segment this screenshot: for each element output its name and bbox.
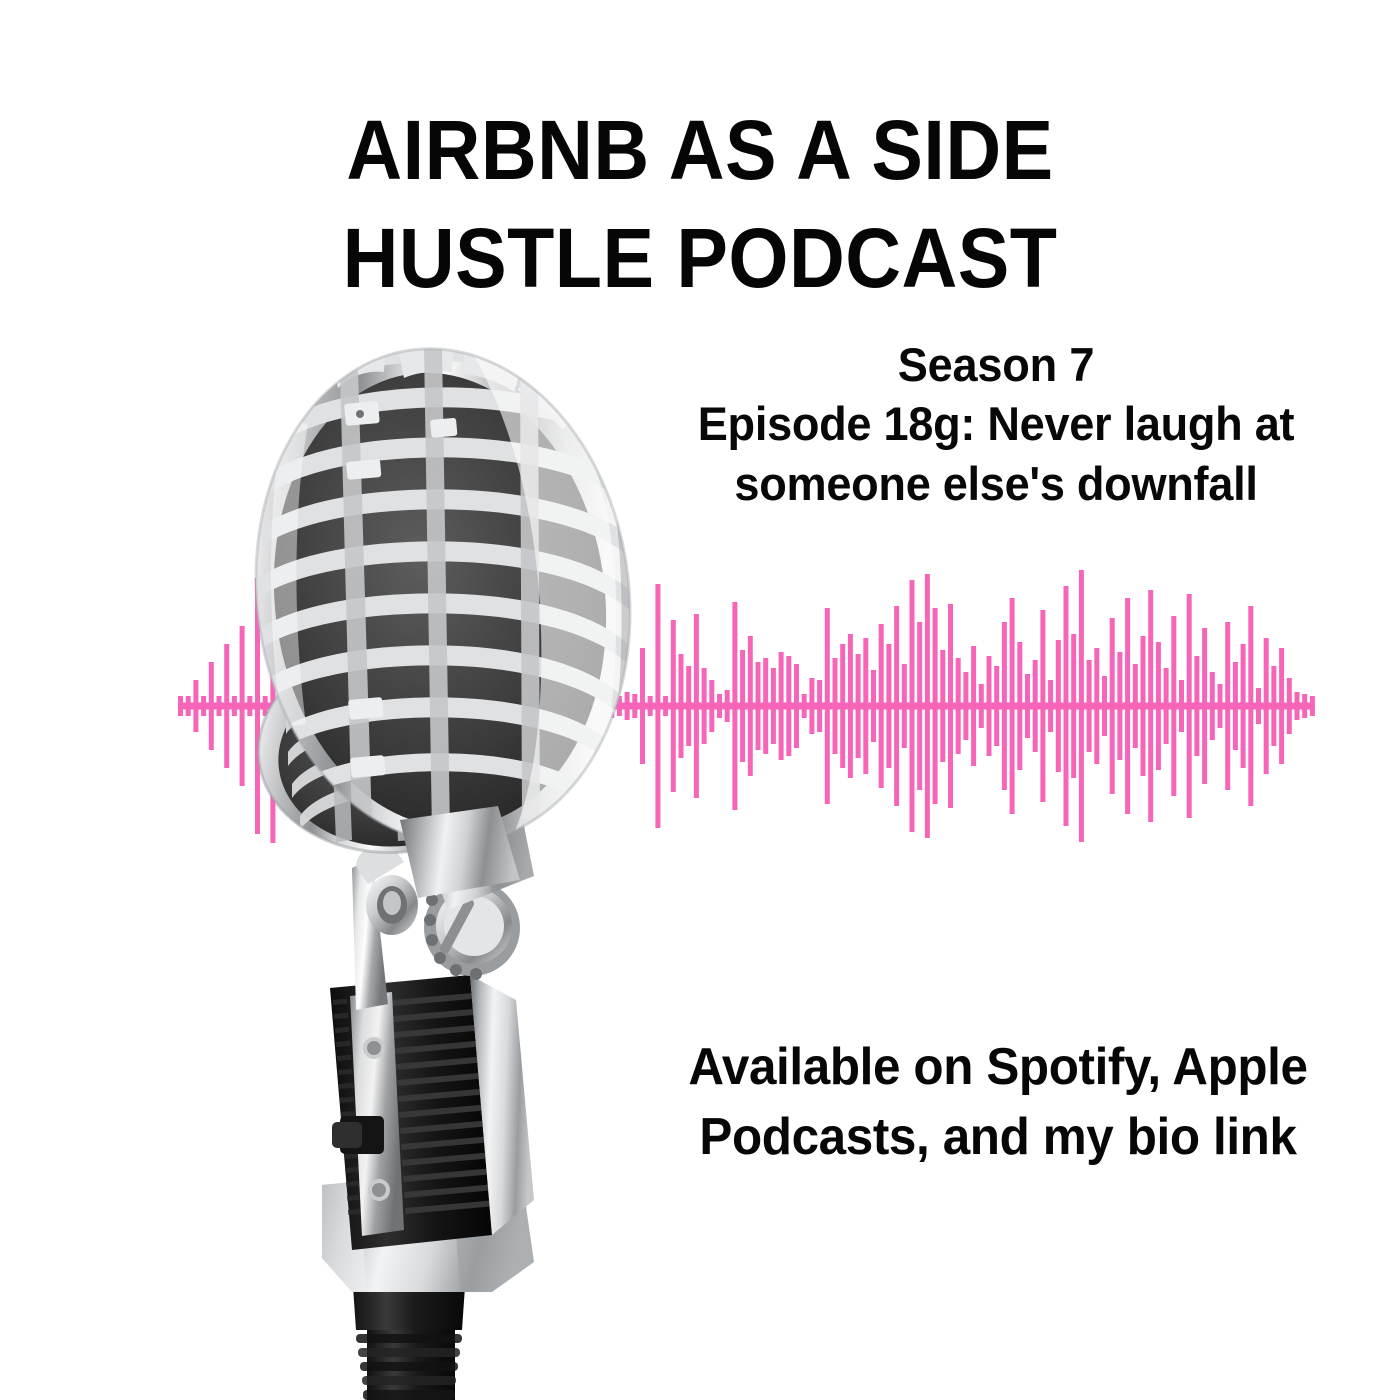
waveform-bar	[1033, 660, 1038, 752]
waveform-bar	[848, 634, 853, 778]
waveform-bar	[340, 696, 345, 716]
waveform-bar	[217, 696, 222, 716]
waveform-bar	[948, 604, 953, 808]
waveform-bar	[1241, 644, 1246, 768]
waveform-bar	[994, 666, 999, 746]
waveform-bar	[270, 569, 275, 843]
waveform-bar	[1279, 648, 1284, 764]
waveform-bar	[232, 696, 237, 716]
waveform-bar	[571, 696, 576, 716]
waveform-bar	[186, 696, 191, 716]
waveform-bar	[648, 696, 653, 716]
waveform-bar	[1179, 680, 1184, 732]
waveform-bar	[1017, 642, 1022, 770]
microphone-neck	[400, 806, 520, 898]
waveform-bar	[756, 662, 761, 750]
episode-title-line-2: someone else's downfall	[673, 454, 1318, 514]
waveform-bar	[1156, 642, 1161, 770]
waveform-bar	[686, 666, 691, 746]
waveform-bar	[224, 644, 229, 768]
waveform-bar	[309, 696, 314, 716]
waveform-bar	[771, 668, 776, 744]
waveform-bar	[879, 624, 884, 788]
waveform-bar	[963, 672, 968, 740]
waveform-bar	[1218, 684, 1223, 728]
waveform-bar	[971, 646, 976, 766]
waveform-bar	[563, 694, 568, 718]
waveform-bar	[586, 694, 591, 718]
waveform-bar	[940, 650, 945, 762]
waveform-bar	[301, 648, 306, 764]
waveform-bar	[725, 690, 730, 722]
waveform-bar	[263, 696, 268, 716]
microphone-yoke	[352, 806, 534, 1010]
waveform-bar	[1187, 594, 1192, 818]
waveform-bar	[355, 694, 360, 718]
waveform-bar	[910, 580, 915, 832]
waveform-bar	[455, 692, 460, 720]
waveform-bar	[432, 696, 437, 716]
microphone-body-panel	[330, 975, 534, 1250]
title-line-1: AIRBNB AS A SIDE	[56, 96, 1344, 204]
waveform-bar	[1071, 634, 1076, 778]
waveform-bar	[717, 694, 722, 718]
waveform-bar	[625, 692, 630, 720]
waveform-bar	[555, 692, 560, 720]
waveform-bar	[525, 696, 530, 716]
waveform-bar	[632, 694, 637, 718]
waveform-bar	[602, 692, 607, 720]
waveform-bar	[409, 696, 414, 716]
waveform-bar	[240, 626, 245, 786]
waveform-bar	[679, 654, 684, 758]
waveform-bar	[740, 650, 745, 762]
waveform-bar	[1194, 656, 1199, 756]
waveform-bar	[1164, 668, 1169, 744]
waveform-bar	[833, 658, 838, 754]
microphone-cable	[352, 1238, 466, 1400]
waveform-bar	[902, 664, 907, 748]
waveform-bar	[517, 694, 522, 718]
waveform-bar	[917, 622, 922, 790]
waveform-bar	[694, 614, 699, 798]
waveform-bar	[209, 662, 214, 750]
waveform-bar	[193, 680, 198, 732]
waveform-bar	[794, 664, 799, 748]
waveform-bar	[871, 670, 876, 742]
waveform-bar	[448, 696, 453, 716]
waveform-bar	[1010, 598, 1015, 814]
waveform-bar	[1110, 618, 1115, 794]
waveform-bar	[178, 696, 183, 716]
waveform-bar	[386, 696, 391, 716]
waveform-bar	[417, 694, 422, 718]
waveform-bar	[594, 696, 599, 716]
waveform-bar	[779, 652, 784, 760]
waveform-bar	[401, 696, 406, 716]
waveform-bar	[540, 694, 545, 718]
waveform-bar	[1233, 662, 1238, 750]
waveform-bar	[486, 692, 491, 720]
episode-info: Season 7 Episode 18g: Never laugh at som…	[660, 336, 1332, 514]
waveform-bar	[578, 692, 583, 720]
waveform-bar	[979, 684, 984, 728]
waveform-bar	[748, 636, 753, 776]
waveform-bar	[609, 694, 614, 718]
waveform-bar	[424, 692, 429, 720]
availability-line-1: Available on Spotify, Apple	[658, 1032, 1338, 1102]
season-label: Season 7	[673, 336, 1318, 394]
waveform-bar	[1133, 664, 1138, 748]
waveform-bar	[1302, 694, 1307, 718]
waveform-bar	[471, 694, 476, 718]
waveform-bar	[809, 678, 814, 734]
waveform-bar	[378, 696, 383, 716]
waveform-bar	[548, 696, 553, 716]
waveform-bar	[1117, 652, 1122, 760]
waveform-bar	[1102, 676, 1107, 736]
waveform-bar	[1002, 622, 1007, 790]
waveform-bar	[933, 608, 938, 804]
waveform-bar	[702, 668, 707, 744]
waveform-bar	[671, 620, 676, 792]
waveform-bar	[286, 602, 291, 810]
waveform-bar	[1202, 628, 1207, 784]
microphone-base	[322, 1165, 534, 1292]
waveform-bar	[1148, 590, 1153, 822]
waveform-bar	[1064, 586, 1069, 826]
waveform-bar	[1056, 640, 1061, 772]
waveform-bar	[1171, 616, 1176, 796]
waveform-bar	[247, 696, 252, 716]
waveform-bar	[886, 644, 891, 768]
waveform-bar	[294, 696, 299, 716]
waveform-bar	[1295, 692, 1300, 720]
waveform-bar	[440, 694, 445, 718]
waveform-bar	[324, 694, 329, 718]
waveform-bar	[655, 584, 660, 828]
waveform-bar	[1040, 610, 1045, 802]
waveform-bar	[617, 696, 622, 716]
waveform-center-line	[178, 703, 1315, 710]
waveform-bar	[463, 696, 468, 716]
waveform-bar	[732, 602, 737, 810]
episode-title-line-1: Episode 18g: Never laugh at	[673, 394, 1318, 454]
waveform-bar	[363, 696, 368, 716]
waveform-bar	[786, 656, 791, 756]
waveform-bar	[987, 656, 992, 756]
waveform-bar	[763, 658, 768, 754]
waveform-bar	[1141, 636, 1146, 776]
waveform-bar	[1210, 672, 1215, 740]
waveform-bar	[332, 692, 337, 720]
waveform-bar	[347, 696, 352, 716]
availability-line-2: Podcasts, and my bio link	[658, 1102, 1338, 1172]
waveform-bar	[840, 644, 845, 768]
waveform-bar	[663, 696, 668, 716]
waveform-bar	[278, 696, 283, 716]
waveform-bar	[925, 574, 930, 838]
waveform-bar	[1271, 666, 1276, 746]
waveform-bar	[509, 692, 514, 720]
waveform-bar	[1079, 570, 1084, 842]
waveform-bar	[709, 680, 714, 732]
waveform-bar	[1310, 696, 1315, 716]
waveform-bar	[394, 694, 399, 718]
waveform-bar	[863, 638, 868, 774]
microphone-lower-grille	[246, 619, 554, 868]
waveform-bar	[640, 648, 645, 764]
waveform-bar	[201, 696, 206, 716]
waveform-bar	[894, 606, 899, 806]
waveform-bar	[1287, 678, 1292, 734]
waveform-bar	[856, 654, 861, 758]
waveform-bar	[532, 692, 537, 720]
podcast-title: AIRBNB AS A SIDE HUSTLE PODCAST	[0, 96, 1400, 312]
waveform-bar	[802, 694, 807, 718]
availability-note: Available on Spotify, Apple Podcasts, an…	[640, 1032, 1356, 1172]
waveform-bar	[317, 678, 322, 734]
waveform-bars	[178, 569, 1315, 843]
waveform-bar	[478, 696, 483, 716]
waveform-bar	[1048, 680, 1053, 732]
waveform-bar	[501, 696, 506, 716]
waveform-bar	[956, 658, 961, 754]
microphone-head	[228, 327, 658, 865]
waveform-bar	[255, 578, 260, 834]
waveform-bar	[1025, 674, 1030, 738]
waveform-bar	[371, 694, 376, 718]
waveform-bar	[817, 680, 822, 732]
title-line-2: HUSTLE PODCAST	[56, 204, 1344, 312]
waveform-bar	[494, 694, 499, 718]
podcast-cover: AIRBNB AS A SIDE HUSTLE PODCAST Season 7…	[0, 0, 1400, 1400]
waveform-bar	[1264, 638, 1269, 774]
waveform-bar	[1248, 606, 1253, 806]
waveform-bar	[1094, 648, 1099, 764]
waveform-bar	[1125, 598, 1130, 814]
waveform-bar	[1087, 660, 1092, 752]
waveform-bar	[1225, 622, 1230, 790]
waveform-bar	[1256, 688, 1261, 724]
waveform-bar	[825, 608, 830, 804]
